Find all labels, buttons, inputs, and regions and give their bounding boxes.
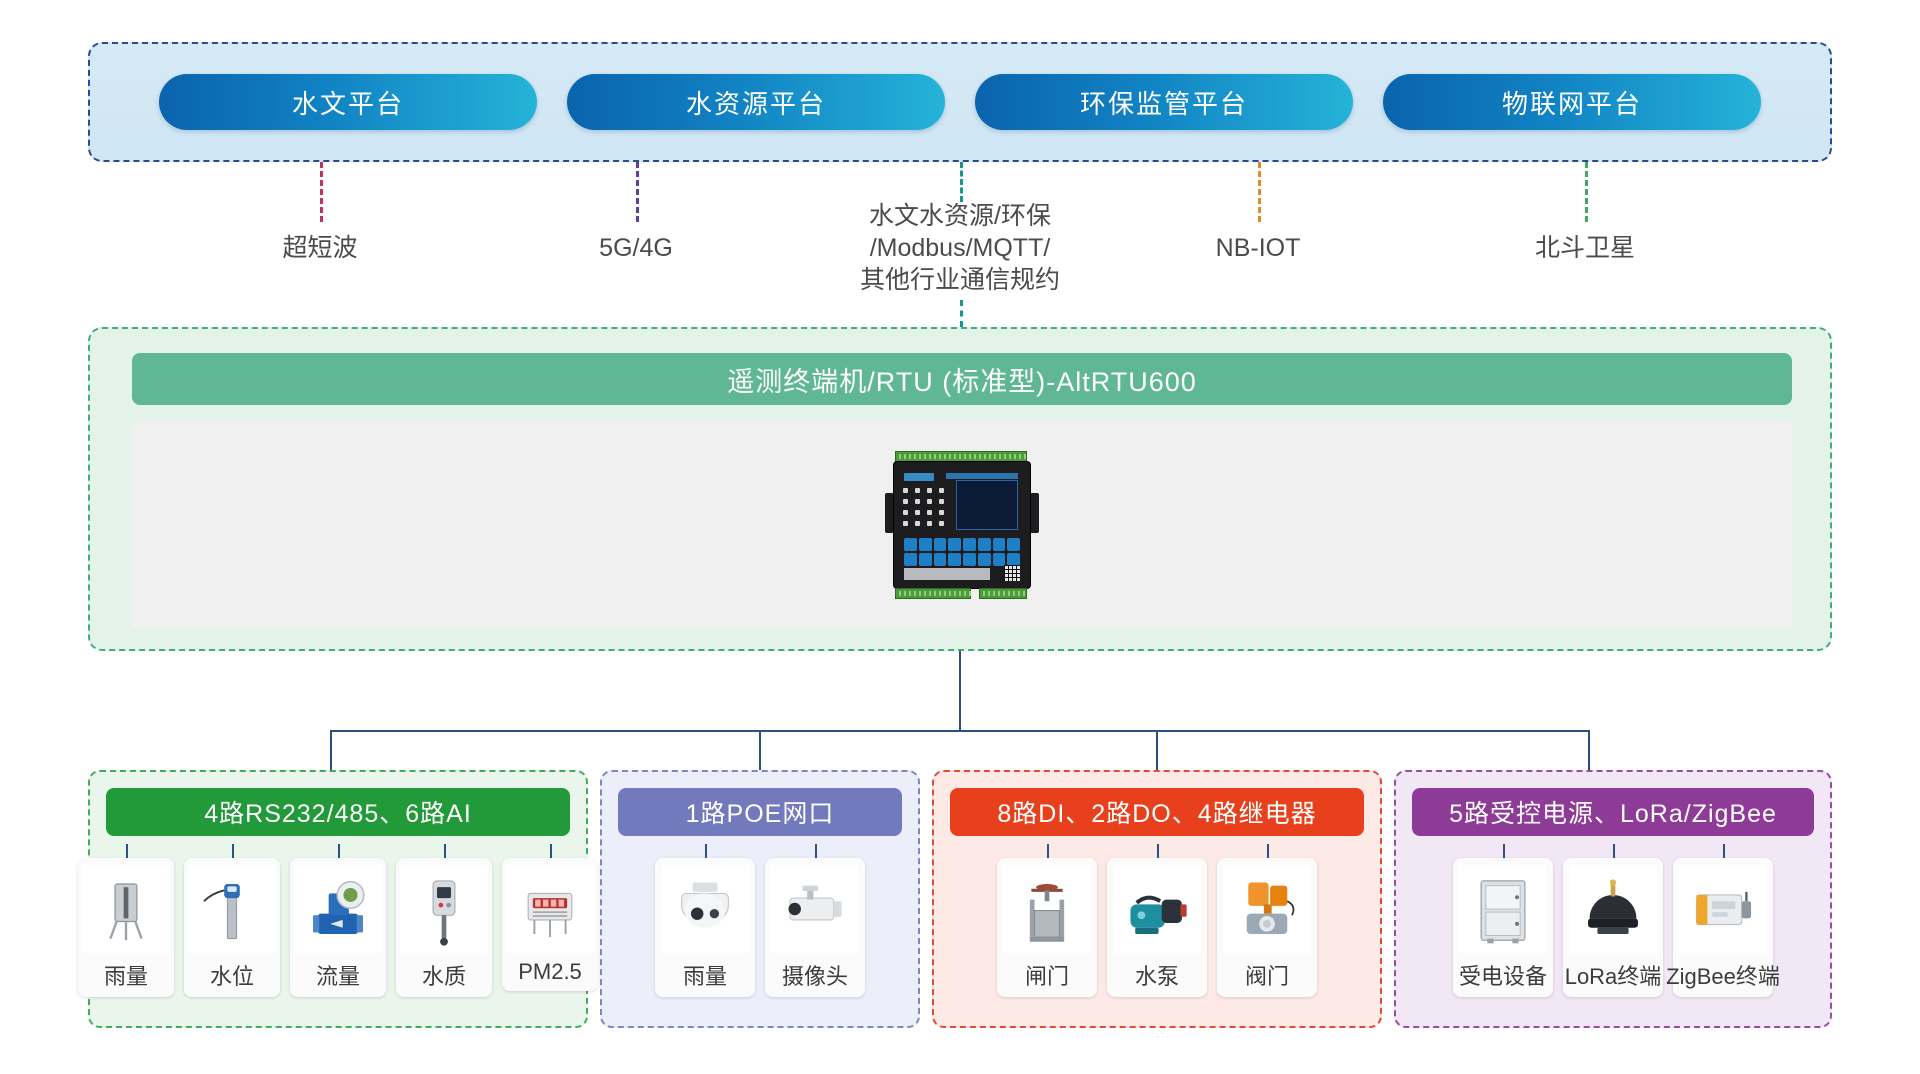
- led-indicator: [903, 510, 908, 515]
- group-device-row-3: 闸门水泵阀门: [948, 858, 1366, 1006]
- led-indicator: [903, 521, 908, 526]
- terminal-pin: [914, 454, 916, 459]
- keypad-key[interactable]: [993, 538, 1006, 551]
- electric-valve-icon: [1223, 865, 1311, 953]
- terminal-pin: [904, 454, 906, 459]
- terminal-pin: [954, 591, 956, 596]
- terminal-pin: [959, 454, 961, 459]
- protocol-connector-2: [636, 162, 639, 222]
- device-card[interactable]: 水质: [396, 858, 492, 997]
- interface-group-2: 1路POE网口雨量摄像头: [600, 770, 920, 1028]
- platform-button-4[interactable]: 物联网平台: [1383, 74, 1761, 130]
- protocol-connector-5: [1585, 162, 1588, 222]
- terminal-pin: [993, 591, 995, 596]
- rain-gauge-icon: [82, 865, 170, 953]
- device-card[interactable]: 水泵: [1107, 858, 1207, 997]
- lcd-screen-icon: [956, 480, 1018, 530]
- rtu-body: [893, 461, 1031, 589]
- flow-meter-icon: [294, 865, 382, 953]
- device-label: 阀门: [1245, 953, 1289, 991]
- device-connector-stub: [126, 844, 128, 858]
- keypad-key[interactable]: [919, 553, 932, 566]
- terminal-pin: [949, 591, 951, 596]
- terminal-pin: [899, 454, 901, 459]
- tree-branch-1: [330, 730, 332, 770]
- keypad-key[interactable]: [963, 538, 976, 551]
- protocol-label-5: 北斗卫星: [1465, 232, 1705, 264]
- group-header-2[interactable]: 1路POE网口: [618, 788, 902, 836]
- keypad-key[interactable]: [934, 538, 947, 551]
- device-connector-stub: [1047, 844, 1049, 858]
- led-indicator: [939, 510, 944, 515]
- terminal-pin: [1013, 591, 1015, 596]
- altrtu600-device-icon: [883, 451, 1041, 599]
- terminal-pin: [969, 591, 971, 596]
- terminal-pin: [1019, 454, 1021, 459]
- device-card[interactable]: 流量: [290, 858, 386, 997]
- device-label: 雨量: [683, 953, 727, 991]
- terminal-pin: [909, 454, 911, 459]
- protocol-label-4: NB-IOT: [1138, 232, 1378, 264]
- power-cabinet-icon: [1459, 865, 1547, 953]
- protocol-connector-3: [960, 162, 963, 202]
- led-indicator: [927, 499, 932, 504]
- terminal-pin: [954, 454, 956, 459]
- led-indicator: [927, 488, 932, 493]
- terminal-pin: [924, 591, 926, 596]
- device-label: 水质: [422, 953, 466, 991]
- device-card[interactable]: 摄像头: [765, 858, 865, 997]
- rtu-device-stage: [132, 421, 1792, 629]
- terminal-pin: [939, 591, 941, 596]
- terminal-pin: [924, 454, 926, 459]
- rtu-title-bar: 遥测终端机/RTU (标准型)-AltRTU600: [132, 353, 1792, 405]
- diagram-canvas: 水文平台水资源平台环保监管平台物联网平台 超短波5G/4G水文水资源/环保 /M…: [0, 0, 1920, 1074]
- terminal-pin: [998, 591, 1000, 596]
- terminal-pin: [919, 591, 921, 596]
- device-card[interactable]: 雨量: [78, 858, 174, 997]
- keypad-key[interactable]: [934, 553, 947, 566]
- device-card[interactable]: 雨量: [655, 858, 755, 997]
- terminal-pin: [994, 454, 996, 459]
- device-label: 水泵: [1135, 953, 1179, 991]
- device-label: 闸门: [1025, 953, 1069, 991]
- device-card[interactable]: ZigBee终端: [1673, 858, 1773, 997]
- terminal-pin: [899, 591, 901, 596]
- interface-group-3: 8路DI、2路DO、4路继电器闸门水泵阀门: [932, 770, 1382, 1028]
- terminal-pin: [988, 591, 990, 596]
- led-indicator: [915, 488, 920, 493]
- rtu-panel: 遥测终端机/RTU (标准型)-AltRTU600: [88, 327, 1832, 651]
- device-connector-stub: [1267, 844, 1269, 858]
- terminal-pin: [959, 591, 961, 596]
- device-connector-stub: [1723, 844, 1725, 858]
- led-indicator: [915, 521, 920, 526]
- device-card[interactable]: 阀门: [1217, 858, 1317, 997]
- led-indicator: [927, 521, 932, 526]
- terminal-pin: [1009, 454, 1011, 459]
- led-indicator: [939, 499, 944, 504]
- protocol-label-3: 水文水资源/环保 /Modbus/MQTT/ 其他行业通信规约: [800, 200, 1120, 296]
- led-indicator-array: [903, 488, 949, 530]
- led-indicator: [903, 488, 908, 493]
- terminal-pin: [944, 454, 946, 459]
- device-connector-stub: [815, 844, 817, 858]
- device-connector-stub: [1613, 844, 1615, 858]
- device-label: ZigBee终端: [1666, 953, 1780, 991]
- bullet-camera-icon: [771, 865, 859, 953]
- interface-group-1: 4路RS232/485、6路AI雨量水位流量水质PM2.5: [88, 770, 588, 1028]
- terminal-pin: [1004, 454, 1006, 459]
- tree-branch-4: [1588, 730, 1590, 770]
- device-label: 水位: [210, 953, 254, 991]
- terminal-pin: [944, 591, 946, 596]
- led-indicator: [939, 521, 944, 526]
- qr-code-icon: [1004, 565, 1020, 581]
- keypad-key[interactable]: [904, 553, 917, 566]
- keypad-key[interactable]: [948, 553, 961, 566]
- led-indicator: [915, 499, 920, 504]
- terminal-pin: [979, 454, 981, 459]
- device-label: 流量: [316, 953, 360, 991]
- keypad-key[interactable]: [1007, 538, 1020, 551]
- platform-button-2[interactable]: 水资源平台: [567, 74, 945, 130]
- lora-terminal-icon: [1569, 865, 1657, 953]
- terminal-pin: [1018, 591, 1020, 596]
- protocol-label-1: 超短波: [200, 232, 440, 264]
- tree-branch-2: [759, 730, 761, 770]
- sluice-gate-icon: [1003, 865, 1091, 953]
- terminal-pin: [1023, 591, 1025, 596]
- terminal-block-bottom-left-icon: [895, 588, 971, 599]
- terminal-pin: [929, 454, 931, 459]
- led-indicator: [939, 488, 944, 493]
- terminal-pin: [909, 591, 911, 596]
- interface-group-4: 5路受控电源、LoRa/ZigBee受电设备LoRa终端ZigBee终端: [1394, 770, 1832, 1028]
- brand-logo-icon: [904, 473, 934, 481]
- device-connector-stub: [705, 844, 707, 858]
- tree-trunk: [959, 651, 961, 731]
- terminal-pin: [919, 454, 921, 459]
- water-level-sensor-icon: [188, 865, 276, 953]
- platform-button-row: 水文平台水资源平台环保监管平台物联网平台: [90, 44, 1830, 160]
- device-card[interactable]: LoRa终端: [1563, 858, 1663, 997]
- keypad-key[interactable]: [978, 538, 991, 551]
- platform-layer: 水文平台水资源平台环保监管平台物联网平台: [88, 42, 1832, 162]
- tree-bus: [330, 730, 1590, 732]
- group-header-1[interactable]: 4路RS232/485、6路AI: [106, 788, 570, 836]
- device-label: LoRa终端: [1565, 953, 1662, 991]
- keypad-key[interactable]: [904, 538, 917, 551]
- device-connector-stub: [550, 844, 552, 858]
- device-connector-stub: [232, 844, 234, 858]
- protocol-connector-1: [320, 162, 323, 222]
- terminal-pin: [984, 454, 986, 459]
- pm25-sensor-icon: [506, 865, 594, 953]
- keypad-icon: [904, 538, 1020, 568]
- device-card[interactable]: 水位: [184, 858, 280, 997]
- terminal-pin: [974, 454, 976, 459]
- group-header-3[interactable]: 8路DI、2路DO、4路继电器: [950, 788, 1364, 836]
- label-strip: [904, 568, 990, 580]
- terminal-pin: [1024, 454, 1026, 459]
- platform-button-3[interactable]: 环保监管平台: [975, 74, 1353, 130]
- zigbee-terminal-icon: [1679, 865, 1767, 953]
- keypad-key[interactable]: [963, 553, 976, 566]
- device-label: 受电设备: [1459, 953, 1547, 991]
- keypad-key[interactable]: [919, 538, 932, 551]
- terminal-pin: [983, 591, 985, 596]
- water-pump-icon: [1113, 865, 1201, 953]
- device-connector-stub: [444, 844, 446, 858]
- terminal-pin: [1003, 591, 1005, 596]
- led-indicator: [915, 510, 920, 515]
- device-connector-stub: [1503, 844, 1505, 858]
- terminal-pin: [934, 454, 936, 459]
- terminal-block-bottom-right-icon: [979, 588, 1027, 599]
- platform-button-1[interactable]: 水文平台: [159, 74, 537, 130]
- device-label: 摄像头: [782, 953, 848, 991]
- protocol-connector-3-lower: [960, 300, 963, 327]
- led-indicator: [903, 499, 908, 504]
- terminal-pin: [939, 454, 941, 459]
- device-card[interactable]: PM2.5: [502, 858, 598, 991]
- terminal-pin: [949, 454, 951, 459]
- device-connector-stub: [1157, 844, 1159, 858]
- dome-camera-icon: [661, 865, 749, 953]
- terminal-pin: [969, 454, 971, 459]
- terminal-pin: [1014, 454, 1016, 459]
- protocol-connector-4: [1258, 162, 1261, 222]
- group-device-row-2: 雨量摄像头: [616, 858, 904, 1006]
- terminal-pin: [964, 454, 966, 459]
- model-print: [946, 473, 1018, 479]
- group-header-4[interactable]: 5路受控电源、LoRa/ZigBee: [1412, 788, 1814, 836]
- terminal-pin: [1008, 591, 1010, 596]
- terminal-pin: [929, 591, 931, 596]
- terminal-pin: [999, 454, 1001, 459]
- device-label: PM2.5: [518, 953, 582, 985]
- terminal-pin: [964, 591, 966, 596]
- mount-ear-right: [1030, 493, 1039, 533]
- keypad-key[interactable]: [948, 538, 961, 551]
- device-connector-stub: [338, 844, 340, 858]
- device-card[interactable]: 闸门: [997, 858, 1097, 997]
- terminal-pin: [989, 454, 991, 459]
- water-quality-meter-icon: [400, 865, 488, 953]
- terminal-pin: [934, 591, 936, 596]
- group-device-row-1: 雨量水位流量水质PM2.5: [104, 858, 572, 1006]
- device-label: 雨量: [104, 953, 148, 991]
- terminal-pin: [904, 591, 906, 596]
- tree-branch-3: [1156, 730, 1158, 770]
- protocol-label-2: 5G/4G: [516, 232, 756, 264]
- group-device-row-4: 受电设备LoRa终端ZigBee终端: [1410, 858, 1816, 1006]
- terminal-pin: [914, 591, 916, 596]
- keypad-key[interactable]: [978, 553, 991, 566]
- device-card[interactable]: 受电设备: [1453, 858, 1553, 997]
- led-indicator: [927, 510, 932, 515]
